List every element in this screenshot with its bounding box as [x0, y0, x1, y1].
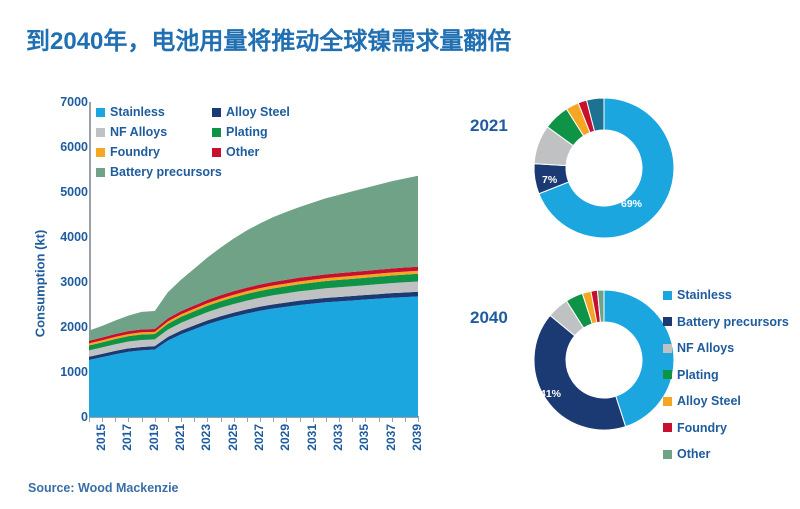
legend-item-foundry[interactable]: Foundry	[96, 145, 160, 159]
legend-swatch-icon	[96, 148, 105, 157]
x-tick-mark	[142, 417, 143, 422]
x-tick-label: 2021	[173, 424, 187, 451]
legend-swatch-icon	[663, 344, 672, 353]
x-tick-mark	[168, 417, 169, 422]
legend-swatch-icon	[663, 397, 672, 406]
y-tick-label: 7000	[28, 95, 88, 109]
donut-legend-item-label: Other	[677, 447, 710, 461]
donut-legend-item-plating[interactable]: Plating	[663, 368, 789, 382]
x-tick-label: 2017	[120, 424, 134, 451]
x-tick-label: 2019	[147, 424, 161, 451]
legend-swatch-icon	[663, 450, 672, 459]
legend-item-battery-precursors[interactable]: Battery precursors	[96, 165, 222, 179]
legend-item-other[interactable]: Other	[212, 145, 259, 159]
legend-swatch-icon	[212, 108, 221, 117]
x-tick-mark	[207, 417, 208, 422]
area-chart: Consumption (kt) 01000200030004000500060…	[0, 90, 460, 470]
legend-item-label: Foundry	[110, 145, 160, 159]
x-tick-label: 2025	[226, 424, 240, 451]
x-tick-mark	[365, 417, 366, 422]
x-tick-mark	[339, 417, 340, 422]
x-tick-label: 2037	[384, 424, 398, 451]
donut-legend-item-battery-precursors[interactable]: Battery precursors	[663, 315, 789, 329]
legend-item-label: Plating	[226, 125, 268, 139]
x-tick-mark	[418, 417, 419, 422]
legend-swatch-icon	[212, 148, 221, 157]
source-note: Source: Wood Mackenzie	[28, 481, 179, 495]
donut-legend-item-alloy-steel[interactable]: Alloy Steel	[663, 394, 789, 408]
donut-2040-year: 2040	[470, 308, 508, 328]
y-tick-label: 2000	[28, 320, 88, 334]
legend-item-label: Other	[226, 145, 259, 159]
x-tick-mark	[115, 417, 116, 422]
x-tick-label: 2033	[331, 424, 345, 451]
x-tick-mark	[234, 417, 235, 422]
legend-swatch-icon	[96, 168, 105, 177]
donut-legend-item-other[interactable]: Other	[663, 447, 789, 461]
x-tick-mark	[392, 417, 393, 422]
legend-item-nf-alloys[interactable]: NF Alloys	[96, 125, 167, 139]
x-tick-mark	[194, 417, 195, 422]
x-tick-mark	[326, 417, 327, 422]
donut-2021: 2021 69% 7%	[470, 92, 680, 242]
x-tick-mark	[247, 417, 248, 422]
legend-swatch-icon	[663, 317, 672, 326]
slide-root: 到2040年，电池用量将推动全球镍需求量翻倍 Consumption (kt) …	[0, 0, 800, 509]
x-tick-mark	[221, 417, 222, 422]
donut-2021-year: 2021	[470, 116, 508, 136]
x-tick-label: 2015	[94, 424, 108, 451]
donut-legend-item-label: Stainless	[677, 288, 732, 302]
donut-slice-battery-precursors[interactable]	[534, 315, 626, 430]
donut-2040: 2040 45% 41%	[470, 284, 680, 434]
legend-item-alloy-steel[interactable]: Alloy Steel	[212, 105, 290, 119]
legend-swatch-icon	[96, 108, 105, 117]
donut-2021-stainless-pct: 69%	[621, 198, 642, 210]
x-tick-mark	[155, 417, 156, 422]
donut-legend-item-label: Battery precursors	[677, 315, 789, 329]
x-tick-mark	[300, 417, 301, 422]
y-tick-label: 1000	[28, 365, 88, 379]
x-tick-label: 2039	[410, 424, 424, 451]
donut-2040-stainless-pct: 45%	[617, 352, 638, 364]
legend-item-label: Alloy Steel	[226, 105, 290, 119]
page-title: 到2040年，电池用量将推动全球镍需求量翻倍	[26, 21, 511, 56]
donut-legend-item-label: Foundry	[677, 421, 727, 435]
donut-legend-item-stainless[interactable]: Stainless	[663, 288, 789, 302]
legend-item-label: Stainless	[110, 105, 165, 119]
legend-swatch-icon	[212, 128, 221, 137]
x-tick-label: 2029	[278, 424, 292, 451]
donut-legend-item-label: Plating	[677, 368, 719, 382]
y-tick-label: 5000	[28, 185, 88, 199]
x-tick-mark	[286, 417, 287, 422]
x-tick-label: 2023	[199, 424, 213, 451]
x-tick-mark	[260, 417, 261, 422]
donut-legend-item-label: NF Alloys	[677, 341, 734, 355]
x-tick-mark	[313, 417, 314, 422]
x-tick-mark	[102, 417, 103, 422]
y-tick-label: 3000	[28, 275, 88, 289]
x-tick-label: 2035	[357, 424, 371, 451]
donut-legend-item-label: Alloy Steel	[677, 394, 741, 408]
legend-swatch-icon	[663, 370, 672, 379]
legend-item-plating[interactable]: Plating	[212, 125, 268, 139]
donut-2021-alloysteel-pct: 7%	[542, 174, 557, 186]
donut-2040-battery-pct: 41%	[540, 388, 561, 400]
legend-item-stainless[interactable]: Stainless	[96, 105, 165, 119]
legend-swatch-icon	[663, 423, 672, 432]
x-tick-label: 2031	[305, 424, 319, 451]
donut-legend-item-foundry[interactable]: Foundry	[663, 421, 789, 435]
donut-legend: StainlessBattery precursorsNF AlloysPlat…	[663, 288, 789, 474]
y-tick-label: 4000	[28, 230, 88, 244]
donut-legend-item-nf-alloys[interactable]: NF Alloys	[663, 341, 789, 355]
y-tick-label: 0	[28, 410, 88, 424]
x-tick-mark	[273, 417, 274, 422]
x-tick-label: 2027	[252, 424, 266, 451]
x-tick-mark	[405, 417, 406, 422]
x-tick-mark	[379, 417, 380, 422]
x-tick-mark	[128, 417, 129, 422]
legend-item-label: NF Alloys	[110, 125, 167, 139]
y-tick-label: 6000	[28, 140, 88, 154]
legend-item-label: Battery precursors	[110, 165, 222, 179]
legend-swatch-icon	[663, 291, 672, 300]
x-tick-mark	[181, 417, 182, 422]
x-tick-mark	[352, 417, 353, 422]
x-tick-mark	[89, 417, 90, 422]
legend-swatch-icon	[96, 128, 105, 137]
